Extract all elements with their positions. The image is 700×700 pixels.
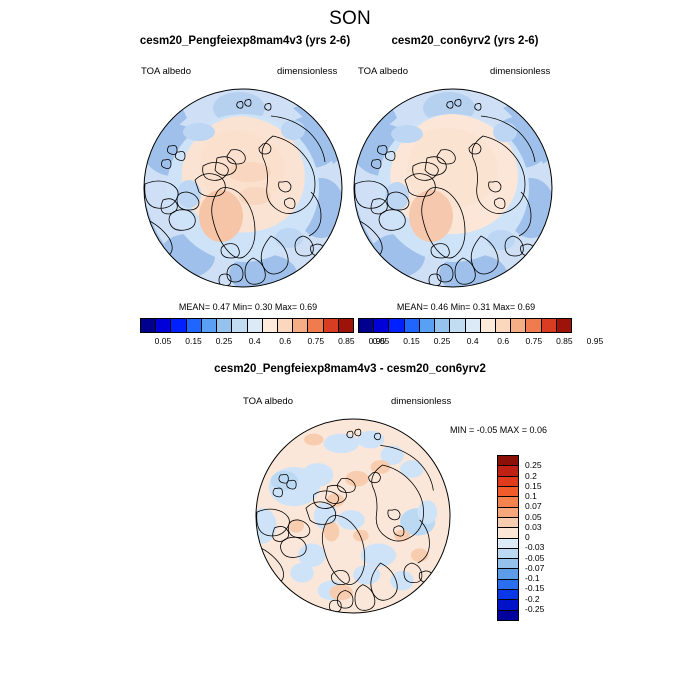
colorbar-tick-label: 0.85 — [338, 336, 355, 346]
colorbar-tick-label: 0.6 — [497, 336, 509, 346]
colorbar-segment — [498, 477, 518, 487]
colorbar-segment — [557, 319, 571, 332]
colorbar-segment — [156, 319, 171, 332]
colorbar-tick-label: 0.25 — [216, 336, 233, 346]
figure-title: SON — [0, 8, 700, 30]
colorbar-tick-label: 0.85 — [556, 336, 573, 346]
colorbar-tick-label: -0.15 — [525, 583, 544, 593]
colorbar-tick-label: 0.75 — [526, 336, 543, 346]
colorbar-segment — [141, 319, 156, 332]
stats-right: MEAN= 0.46 Min= 0.31 Max= 0.69 — [358, 302, 574, 312]
colorbar-segment — [324, 319, 339, 332]
colorbar-segment — [187, 319, 202, 332]
colorbar-segment — [498, 539, 518, 549]
colorbar-segment — [498, 528, 518, 538]
colorbar-segment — [498, 549, 518, 559]
colorbar-tick-label: 0.95 — [587, 336, 604, 346]
colorbar-diff[interactable]: 0.250.20.150.10.070.050.030-0.03-0.05-0.… — [497, 455, 519, 621]
colorbar-segment — [498, 611, 518, 620]
colorbar-segment — [498, 466, 518, 476]
colorbar-segment — [498, 590, 518, 600]
colorbar-segment — [202, 319, 217, 332]
polar-map-right — [353, 88, 553, 288]
panel-units-label-diff: dimensionless — [391, 396, 451, 407]
colorbar-segment — [248, 319, 263, 332]
colorbar-tick-label: 0.75 — [308, 336, 325, 346]
colorbar-tick-label: -0.1 — [525, 573, 540, 583]
colorbar-segment — [498, 518, 518, 528]
colorbar-tick-label: 0 — [525, 532, 530, 542]
colorbar-segment — [498, 569, 518, 579]
colorbar-segment — [374, 319, 389, 332]
colorbar-tick-label: -0.25 — [525, 604, 544, 614]
colorbar-tick-label: -0.03 — [525, 542, 544, 552]
colorbar-segment — [526, 319, 541, 332]
colorbar-left-ticks: 0.050.150.250.40.60.750.850.95 — [140, 336, 354, 350]
colorbar-tick-label: 0.15 — [185, 336, 202, 346]
colorbar-left[interactable]: 0.050.150.250.40.60.750.850.95 — [140, 318, 354, 350]
colorbar-segment — [496, 319, 511, 332]
colorbar-segment — [511, 319, 526, 332]
colorbar-segment — [278, 319, 293, 332]
panel-units-label-left: dimensionless — [277, 66, 337, 77]
colorbar-segment — [435, 319, 450, 332]
panel-variable-label-diff: TOA albedo — [243, 396, 293, 407]
colorbar-segment — [232, 319, 247, 332]
colorbar-segment — [171, 319, 186, 332]
colorbar-tick-label: 0.05 — [525, 512, 542, 522]
colorbar-tick-label: 0.25 — [434, 336, 451, 346]
colorbar-segment — [339, 319, 353, 332]
colorbar-tick-label: -0.05 — [525, 553, 544, 563]
panel-variable-label-left: TOA albedo — [141, 66, 191, 77]
colorbar-right[interactable]: 0.050.150.250.40.60.750.850.95 — [358, 318, 572, 350]
colorbar-tick-label: 0.15 — [525, 481, 542, 491]
colorbar-tick-label: 0.05 — [373, 336, 390, 346]
panel-variable-label-right: TOA albedo — [358, 66, 408, 77]
panel-units-label-right: dimensionless — [490, 66, 550, 77]
colorbar-segment — [481, 319, 496, 332]
colorbar-tick-label: 0.03 — [525, 522, 542, 532]
colorbar-tick-label: 0.4 — [467, 336, 479, 346]
colorbar-segment — [498, 580, 518, 590]
colorbar-segment — [466, 319, 481, 332]
colorbar-tick-label: 0.05 — [155, 336, 172, 346]
colorbar-tick-label: -0.07 — [525, 563, 544, 573]
colorbar-diff-ticks: 0.250.20.150.10.070.050.030-0.03-0.05-0.… — [521, 455, 567, 619]
colorbar-segment — [450, 319, 465, 332]
colorbar-tick-label: 0.2 — [525, 471, 537, 481]
colorbar-segment — [308, 319, 323, 332]
polar-map-left — [143, 88, 343, 288]
panel-title-diff: cesm20_Pengfeiexp8mam4v3 - cesm20_con6yr… — [0, 363, 700, 375]
stats-diff: MIN = -0.05 MAX = 0.06 — [450, 425, 600, 435]
colorbar-segment — [359, 319, 374, 332]
colorbar-tick-label: 0.1 — [525, 491, 537, 501]
colorbar-segment — [405, 319, 420, 332]
colorbar-segment — [542, 319, 557, 332]
colorbar-segment — [498, 456, 518, 466]
colorbar-segment — [293, 319, 308, 332]
colorbar-segment — [498, 487, 518, 497]
colorbar-segment — [498, 600, 518, 610]
colorbar-segment — [420, 319, 435, 332]
colorbar-right-ticks: 0.050.150.250.40.60.750.850.95 — [358, 336, 572, 350]
panel-title-right: cesm20_con6yrv2 (yrs 2-6) — [250, 35, 680, 47]
colorbar-tick-label: 0.4 — [249, 336, 261, 346]
stats-left: MEAN= 0.47 Min= 0.30 Max= 0.69 — [140, 302, 356, 312]
colorbar-tick-label: 0.15 — [403, 336, 420, 346]
colorbar-tick-label: -0.2 — [525, 594, 540, 604]
colorbar-segment — [498, 559, 518, 569]
colorbar-tick-label: 0.07 — [525, 501, 542, 511]
colorbar-segment — [217, 319, 232, 332]
colorbar-tick-label: 0.6 — [279, 336, 291, 346]
colorbar-segment — [389, 319, 404, 332]
colorbar-tick-label: 0.25 — [525, 460, 542, 470]
colorbar-segment — [498, 497, 518, 507]
colorbar-segment — [263, 319, 278, 332]
polar-map-diff — [255, 418, 451, 614]
colorbar-segment — [498, 508, 518, 518]
